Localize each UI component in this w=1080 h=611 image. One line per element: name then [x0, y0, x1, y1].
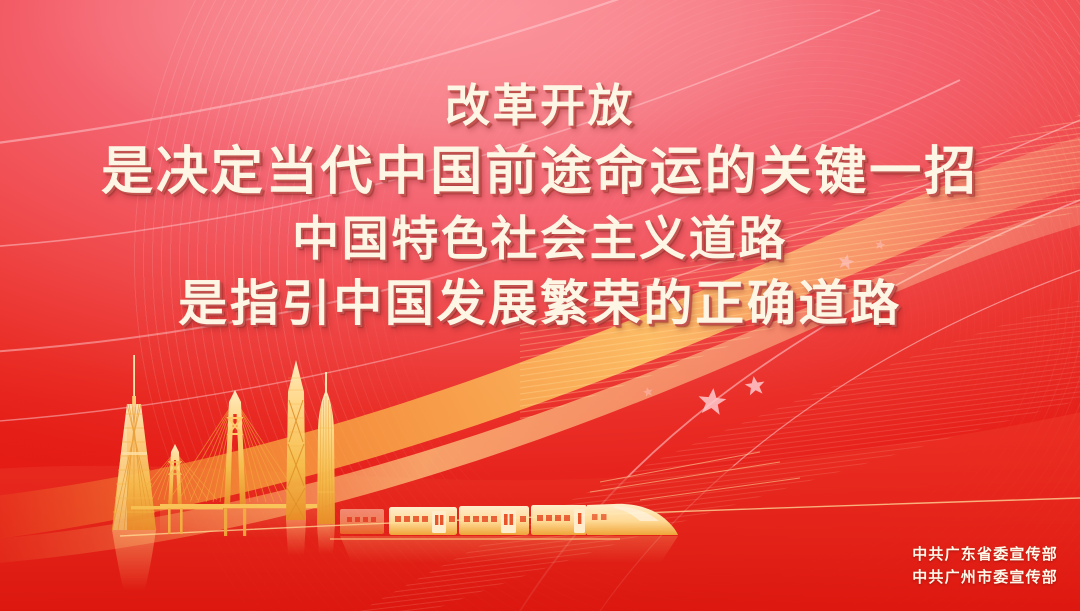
credit-line-2: 中共广州市委宣传部 [912, 566, 1058, 589]
canton-tower-icon [112, 355, 156, 592]
headline-line-4: 是指引中国发展繁荣的正确道路 [0, 274, 1080, 335]
headline-block: 改革开放 是决定当代中国前途命运的关键一招 中国特色社会主义道路 是指引中国发展… [0, 78, 1080, 334]
skyscraper-braced-icon [286, 360, 306, 556]
train-carriage [531, 505, 587, 535]
headline-line-2: 是决定当代中国前途命运的关键一招 [0, 140, 1080, 204]
poster-canvas: 改革开放 是决定当代中国前途命运的关键一招 中国特色社会主义道路 是指引中国发展… [0, 0, 1080, 611]
credit-line-1: 中共广东省委宣传部 [912, 543, 1058, 566]
skyscraper-tapered-icon [317, 372, 335, 554]
high-speed-train-icon [330, 452, 800, 564]
headline-line-1: 改革开放 [0, 78, 1080, 134]
credits-block: 中共广东省委宣传部 中共广州市委宣传部 [912, 543, 1058, 590]
headline-line-3: 中国特色社会主义道路 [0, 210, 1080, 268]
canton-tower-reflection [112, 530, 156, 592]
train-carriage [459, 506, 529, 535]
train-motion-streaks [590, 452, 800, 500]
train-carriage [389, 507, 457, 535]
train-reflection [340, 536, 678, 564]
train-nose [587, 504, 678, 535]
